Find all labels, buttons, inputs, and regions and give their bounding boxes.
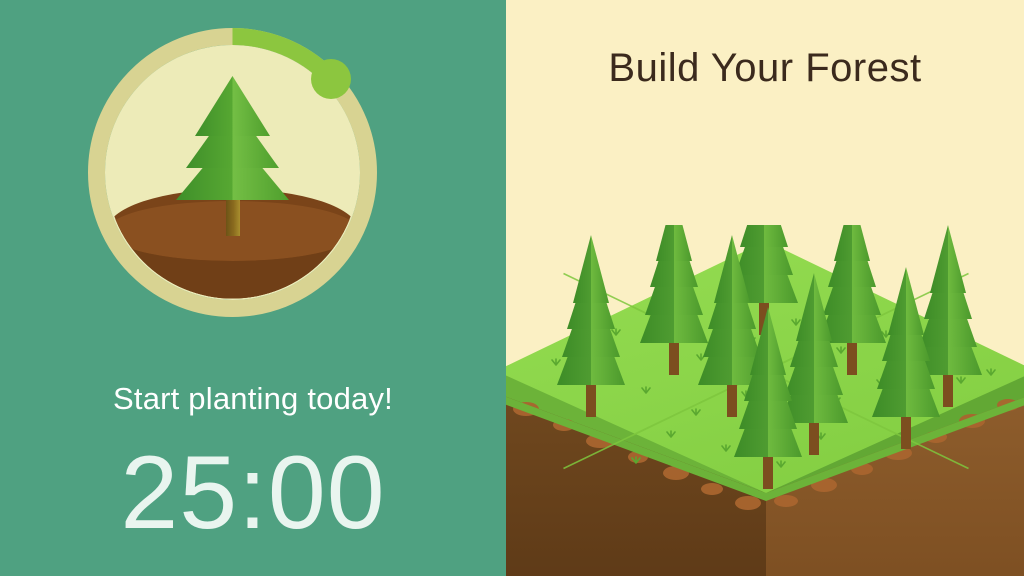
forest-app-screen: Start planting today! 25:00 Build Your F…: [0, 0, 1024, 576]
timer-ring-graphic: [80, 20, 385, 325]
timer-panel: Start planting today! 25:00: [0, 0, 506, 576]
forest-panel: Build Your Forest: [506, 0, 1024, 576]
timer-progress-ring[interactable]: [80, 20, 385, 325]
progress-knob: [311, 59, 351, 99]
page-title: Build Your Forest: [506, 46, 1024, 91]
tagline-text: Start planting today!: [0, 381, 506, 417]
timer-readout[interactable]: 25:00: [0, 437, 506, 549]
isometric-forest-scene[interactable]: [506, 225, 1024, 576]
